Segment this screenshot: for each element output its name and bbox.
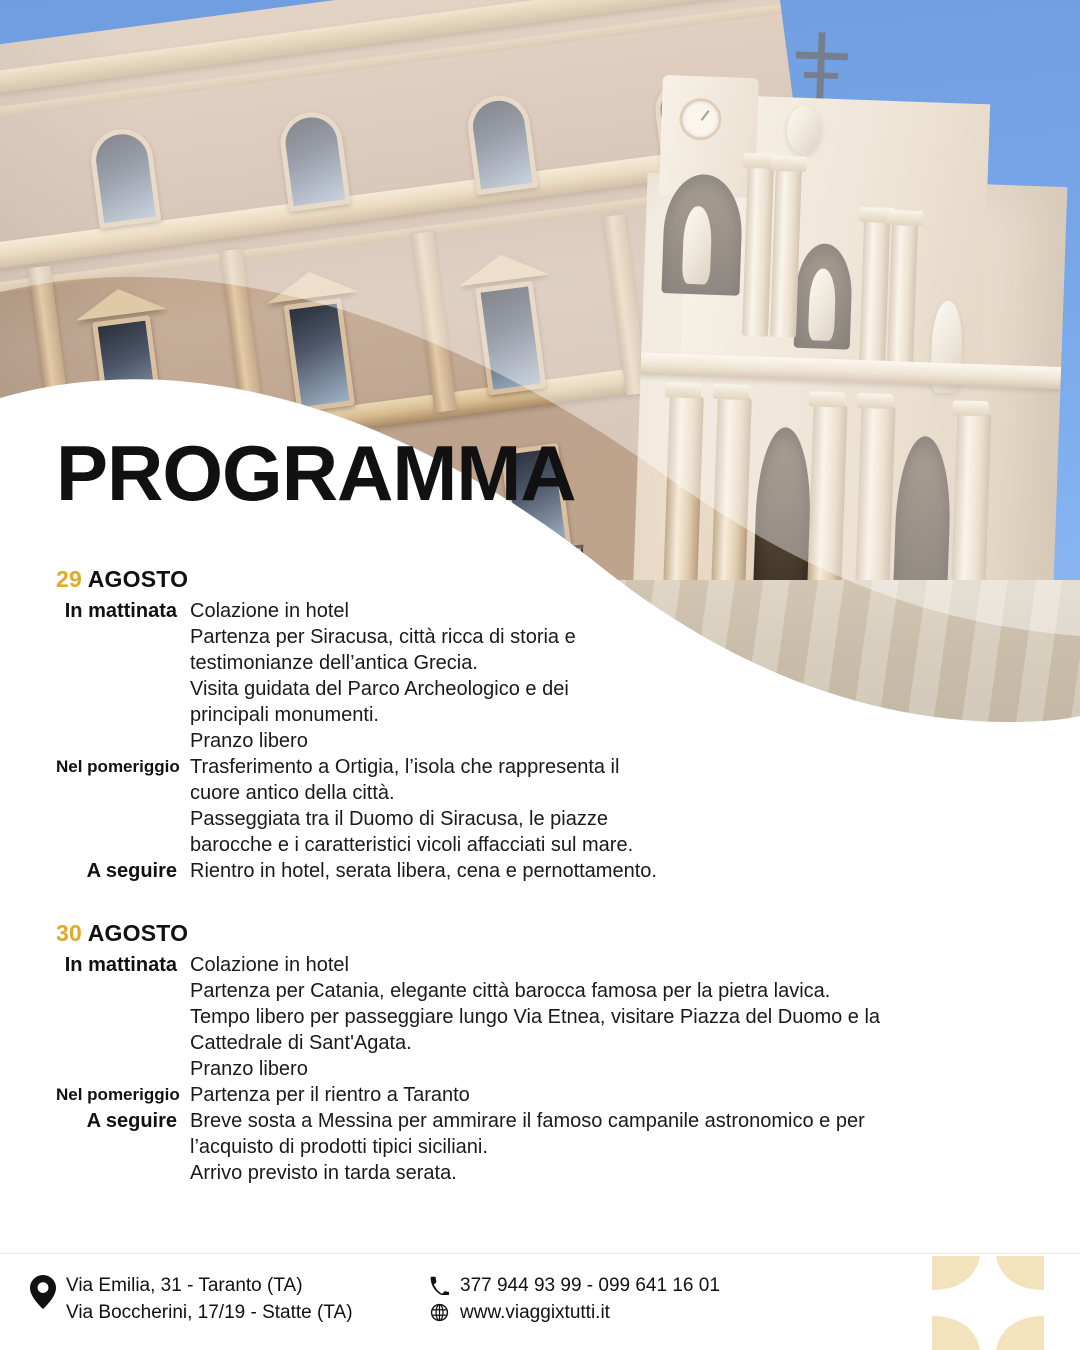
footer-address: Via Emilia, 31 - Taranto (TA) Via Bocche… <box>30 1272 430 1326</box>
schedule-row-body: Trasferimento a Ortigia, l’isola che rap… <box>190 754 1036 858</box>
day-number: 29 <box>56 566 82 592</box>
schedule-line: Tempo libero per passeggiare lungo Via E… <box>190 1004 1036 1030</box>
footer-divider <box>0 1253 1080 1254</box>
schedule-line: Breve sosta a Messina per ammirare il fa… <box>190 1108 1036 1134</box>
phone-icon <box>430 1276 460 1295</box>
schedule-line: Partenza per Siracusa, città ricca di st… <box>190 624 1036 650</box>
footer: Via Emilia, 31 - Taranto (TA) Via Bocche… <box>30 1272 1050 1326</box>
schedule-row: In mattinata Colazione in hotel Partenza… <box>56 952 1036 1082</box>
address-line-1: Via Emilia, 31 - Taranto (TA) <box>66 1272 353 1299</box>
schedule-line: principali monumenti. <box>190 702 1036 728</box>
page-content: PROGRAMMA 29 AGOSTO In mattinata Colazio… <box>0 0 1080 1350</box>
schedule-line: Partenza per Catania, elegante città bar… <box>190 978 1036 1004</box>
schedule-row-label: In mattinata <box>56 598 190 624</box>
schedule-row-body: Colazione in hotel Partenza per Siracusa… <box>190 598 1036 754</box>
globe-icon <box>430 1303 460 1322</box>
schedule-line: Pranzo libero <box>190 1056 1036 1082</box>
footer-website-row[interactable]: www.viaggixtutti.it <box>430 1299 720 1326</box>
schedule-row-body: Partenza per il rientro a Taranto <box>190 1082 1036 1108</box>
schedule-row-label: A seguire <box>56 1108 190 1134</box>
schedule-row-body: Breve sosta a Messina per ammirare il fa… <box>190 1108 1036 1186</box>
schedule-line: Colazione in hotel <box>190 598 1036 624</box>
schedule-row: A seguire Rientro in hotel, serata liber… <box>56 858 1036 884</box>
day-month: AGOSTO <box>88 920 188 946</box>
day-block: 29 AGOSTO In mattinata Colazione in hote… <box>56 566 1036 884</box>
schedule-row: A seguire Breve sosta a Messina per ammi… <box>56 1108 1036 1186</box>
location-pin-icon <box>30 1272 66 1314</box>
schedule-row-body: Colazione in hotel Partenza per Catania,… <box>190 952 1036 1082</box>
schedule-line: Rientro in hotel, serata libera, cena e … <box>190 858 1036 884</box>
schedule-line: l’acquisto di prodotti tipici siciliani. <box>190 1134 1036 1160</box>
day-number: 30 <box>56 920 82 946</box>
schedule-row-label: Nel pomeriggio <box>56 1082 190 1108</box>
footer-contact: 377 944 93 99 - 099 641 16 01 www.viaggi… <box>430 1272 720 1326</box>
day-block: 30 AGOSTO In mattinata Colazione in hote… <box>56 920 1036 1186</box>
schedule-row: Nel pomeriggio Partenza per il rientro a… <box>56 1082 1036 1108</box>
schedule-line: Arrivo previsto in tarda serata. <box>190 1160 1036 1186</box>
address-line-2: Via Boccherini, 17/19 - Statte (TA) <box>66 1299 353 1326</box>
schedule-row-label: Nel pomeriggio <box>56 754 190 780</box>
schedule-line: cuore antico della città. <box>190 780 1036 806</box>
schedule-line: Pranzo libero <box>190 728 1036 754</box>
schedule-line: Trasferimento a Ortigia, l’isola che rap… <box>190 754 1036 780</box>
day-month: AGOSTO <box>88 566 188 592</box>
four-petal-flower-logo <box>932 1256 1044 1350</box>
schedule-line: Cattedrale di Sant'Agata. <box>190 1030 1036 1056</box>
day-heading: 29 AGOSTO <box>56 566 1036 593</box>
footer-contact-text: 377 944 93 99 - 099 641 16 01 www.viaggi… <box>430 1272 720 1326</box>
schedule-row-label: In mattinata <box>56 952 190 978</box>
schedule-line: Partenza per il rientro a Taranto <box>190 1082 1036 1108</box>
schedule-line: testimonianze dell’antica Grecia. <box>190 650 1036 676</box>
footer-website[interactable]: www.viaggixtutti.it <box>460 1299 610 1326</box>
program-schedule: 29 AGOSTO In mattinata Colazione in hote… <box>56 566 1036 1222</box>
page-title: PROGRAMMA <box>56 434 576 512</box>
schedule-line: Passeggiata tra il Duomo di Siracusa, le… <box>190 806 1036 832</box>
footer-address-text: Via Emilia, 31 - Taranto (TA) Via Bocche… <box>66 1272 353 1326</box>
day-heading: 30 AGOSTO <box>56 920 1036 947</box>
footer-phone: 377 944 93 99 - 099 641 16 01 <box>460 1272 720 1299</box>
schedule-line: Colazione in hotel <box>190 952 1036 978</box>
schedule-line: barocche e i caratteristici vicoli affac… <box>190 832 1036 858</box>
footer-phone-row[interactable]: 377 944 93 99 - 099 641 16 01 <box>430 1272 720 1299</box>
schedule-row: Nel pomeriggio Trasferimento a Ortigia, … <box>56 754 1036 858</box>
schedule-line: Visita guidata del Parco Archeologico e … <box>190 676 1036 702</box>
schedule-row-label: A seguire <box>56 858 190 884</box>
schedule-row: In mattinata Colazione in hotel Partenza… <box>56 598 1036 754</box>
schedule-row-body: Rientro in hotel, serata libera, cena e … <box>190 858 1036 884</box>
